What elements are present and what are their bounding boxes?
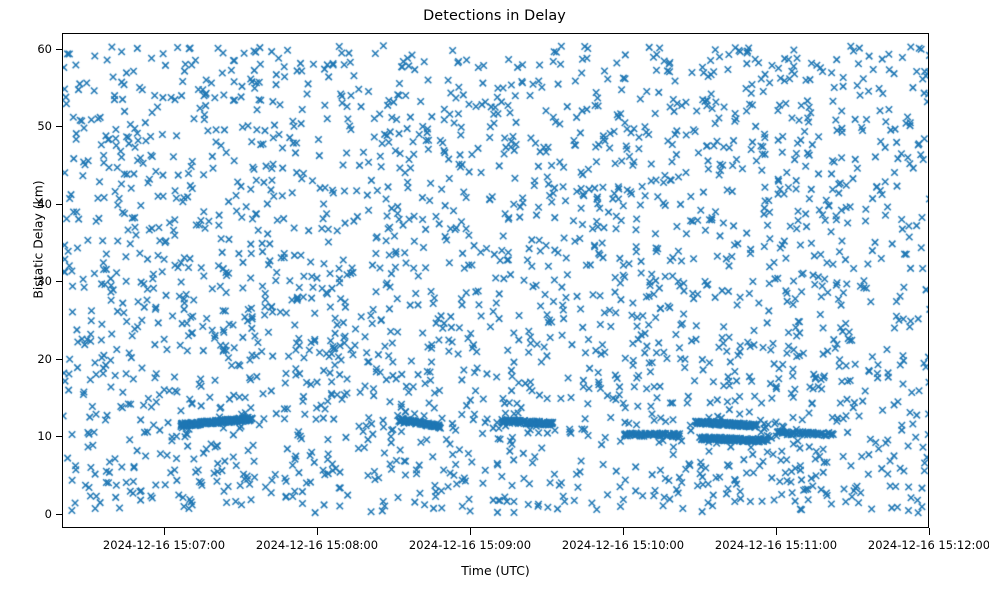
y-axis-tick-label: 60 [37, 42, 52, 56]
y-axis-tick-mark [56, 49, 63, 50]
scatter-series [63, 34, 929, 528]
x-axis-tick-mark [164, 528, 165, 535]
x-axis-tick-label: 2024-12-16 15:07:00 [103, 538, 225, 552]
y-axis-tick-mark [56, 359, 63, 360]
x-axis-tick-mark [470, 528, 471, 535]
x-axis-tick-label: 2024-12-16 15:08:00 [256, 538, 378, 552]
x-axis-tick-mark [776, 528, 777, 535]
y-axis-tick-mark [56, 204, 63, 205]
x-axis-tick-mark [317, 528, 318, 535]
y-axis-tick-mark [56, 126, 63, 127]
y-axis-tick-label: 20 [37, 352, 52, 366]
x-axis-tick-label: 2024-12-16 15:11:00 [715, 538, 837, 552]
x-axis-label: Time (UTC) [62, 563, 929, 578]
page-title: Detections in Delay [0, 8, 989, 24]
x-axis-tick-mark [929, 528, 930, 535]
x-axis-tick-mark [623, 528, 624, 535]
y-axis-tick-mark [56, 281, 63, 282]
y-axis-tick-mark [56, 514, 63, 515]
y-axis-tick-label: 50 [37, 119, 52, 133]
y-axis-tick-label: 10 [37, 429, 52, 443]
x-axis-tick-label: 2024-12-16 15:10:00 [562, 538, 684, 552]
x-axis-tick-label: 2024-12-16 15:12:00 [868, 538, 989, 552]
y-axis-label: Bistatic Delay (km) [31, 140, 46, 340]
y-axis-tick-mark [56, 436, 63, 437]
y-axis-tick-label: 0 [45, 507, 52, 521]
figure-canvas: Detections in Delay 0102030405060 2024-1… [0, 0, 989, 590]
plot-area [62, 33, 929, 528]
x-axis-tick-label: 2024-12-16 15:09:00 [409, 538, 531, 552]
